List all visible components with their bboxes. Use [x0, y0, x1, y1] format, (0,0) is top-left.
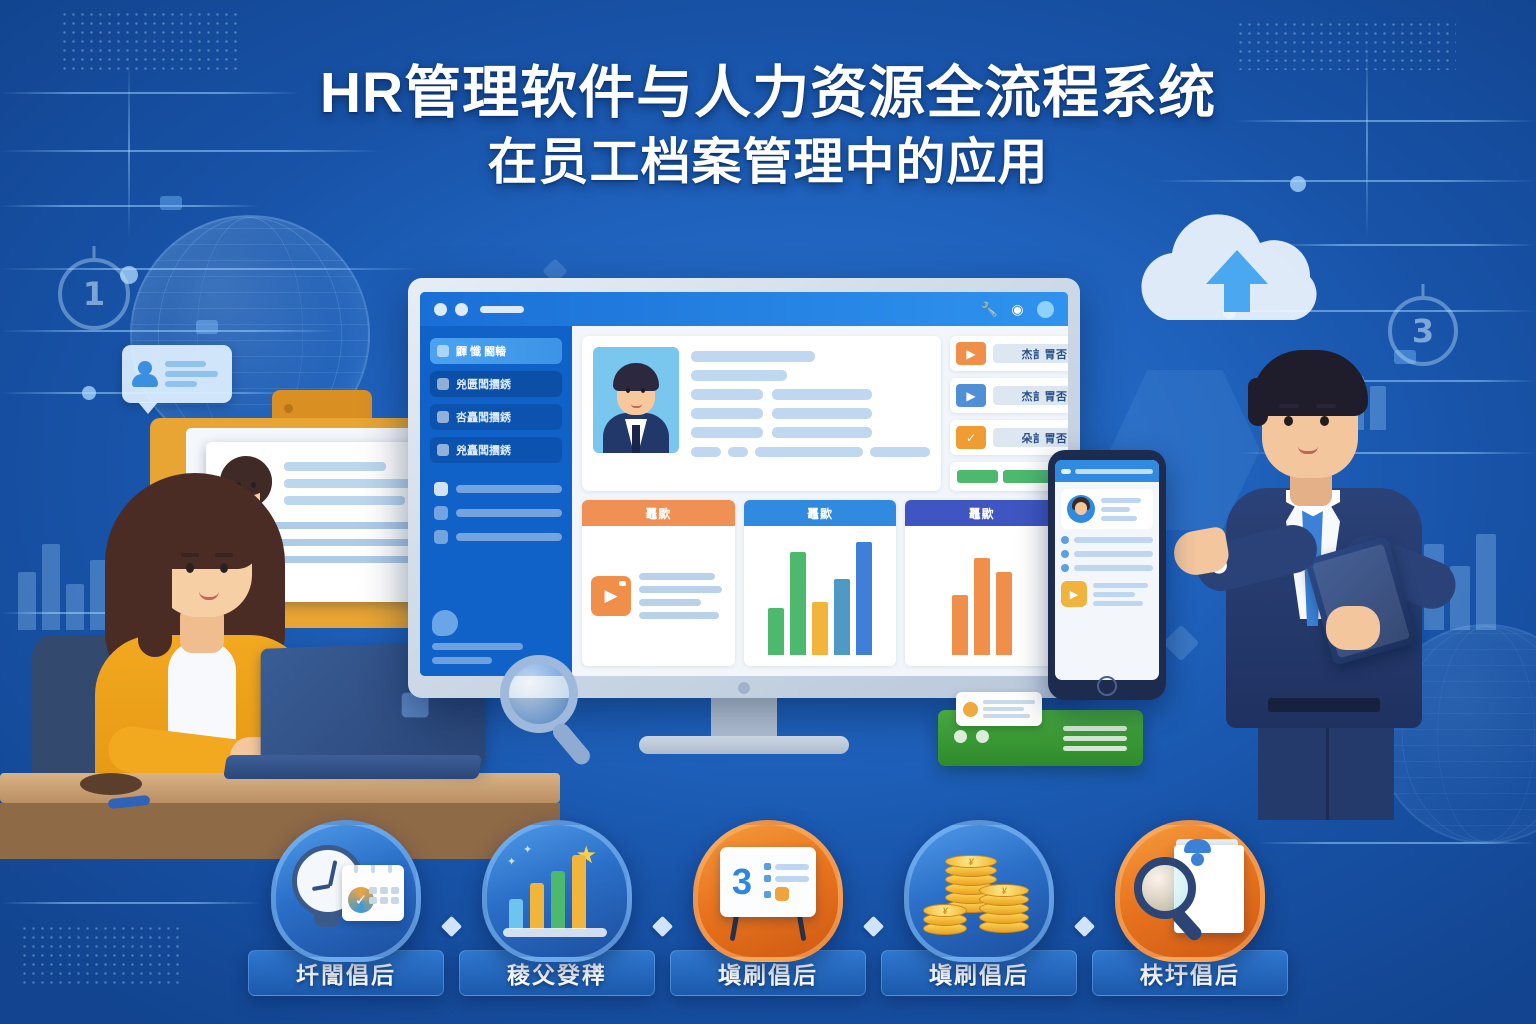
headline-line-2: 在员工档案管理中的应用	[0, 132, 1536, 192]
step-tick	[1422, 284, 1425, 296]
list-item[interactable]	[1061, 564, 1153, 572]
clock-calendar-icon	[290, 839, 402, 943]
eyebrow-left	[181, 553, 199, 557]
list-icon	[434, 530, 448, 544]
list-icon	[434, 506, 448, 520]
eyebrow-left	[1279, 404, 1299, 408]
window-dot[interactable]	[434, 303, 447, 316]
badge-medal	[904, 820, 1054, 962]
phone-screen[interactable]: ▶	[1055, 460, 1159, 680]
badge-medal: ★ ✦ ✦	[482, 820, 632, 962]
footer-line	[432, 643, 523, 650]
belt	[1268, 698, 1380, 712]
eye-left	[1284, 416, 1293, 426]
circuit-node	[1223, 306, 1236, 319]
play-icon: ▶	[956, 342, 986, 365]
mouse-icon	[80, 773, 142, 795]
chart-bar	[834, 579, 850, 655]
feature-badge-row: 圲誾倡后 ★ ✦ ✦ 稜父癹䅸	[0, 820, 1536, 996]
badge-attendance[interactable]: 圲誾倡后	[234, 820, 458, 996]
circuit-chip	[196, 320, 218, 334]
eyebrow-right	[1316, 404, 1336, 408]
badge-training[interactable]: 3 塡刷倡后	[656, 820, 880, 996]
list-item[interactable]	[1061, 536, 1153, 544]
circuit-line	[0, 205, 260, 207]
hair-side	[1248, 378, 1268, 426]
app-titlebar: 🔧 ◉	[420, 292, 1068, 326]
chart-bar	[790, 552, 806, 655]
monitor-base	[639, 736, 849, 754]
list-line	[456, 509, 562, 517]
chart-bar	[768, 608, 784, 655]
phone-profile-card[interactable]	[1061, 489, 1153, 529]
male-employee-id-photo	[593, 347, 679, 453]
circuit-node	[120, 266, 138, 284]
bubble-text-lines	[165, 361, 223, 387]
dashboard-sidebar: 鼲 懺 闘輽 兇匮闆攌銹 呇矗闆攌銹 兇矗闆攌銹	[420, 326, 572, 676]
chart-bar	[974, 558, 990, 655]
step-tick	[93, 246, 96, 258]
phone-app-header	[1055, 460, 1159, 482]
sidebar-item-1[interactable]: 兇匮闆攌銹	[430, 371, 562, 397]
dashboard-panels: 鼉歞 ▶ 鼉歞	[582, 500, 1058, 666]
eye-left	[186, 563, 194, 573]
sidebar-item-icon	[437, 345, 449, 357]
female-employee-avatar	[1067, 495, 1095, 523]
sidebar-item-icon	[437, 411, 449, 423]
hair-side	[138, 527, 172, 657]
server-vents	[1063, 726, 1127, 751]
monitor-bezel: 🔧 ◉ 鼲 懺 闘輽 兇匮闆攌銹	[408, 278, 1080, 698]
eye-right	[1320, 416, 1329, 426]
sidebar-item-icon	[437, 378, 449, 390]
list-item[interactable]	[1061, 550, 1153, 558]
hr-dashboard-monitor: 🔧 ◉ 鼲 懺 闘輽 兇匮闆攌銹	[408, 278, 1080, 698]
panel-title: 鼉歞	[744, 500, 897, 526]
badge-medal	[1115, 820, 1265, 962]
play-icon[interactable]: ▶	[591, 576, 631, 616]
contact-card-icon	[956, 692, 1042, 726]
sidebar-item-2[interactable]: 呇矗闆攌銹	[430, 404, 562, 430]
magnifier-document-icon	[1134, 839, 1246, 943]
dashboard-screen: 🔧 ◉ 鼲 懺 闘輽 兇匮闆攌銹	[420, 292, 1068, 676]
poster-headline: HR管理软件与人力资源全流程系统 在员工档案管理中的应用	[0, 62, 1536, 192]
action-label: 杰訁冐否	[993, 344, 1068, 363]
badge-records-search[interactable]: 枎圩倡后	[1078, 820, 1302, 996]
panel-chart-2[interactable]: 鼉歞	[905, 500, 1058, 666]
circuit-line	[1206, 310, 1536, 312]
headline-line-1: HR管理软件与人力资源全流程系统	[0, 62, 1536, 126]
monitor-indicator	[738, 682, 750, 694]
poster-canvas: 1 3 HR管理软件与人力资源全流程系统 在员工档案管理中的应用	[0, 0, 1536, 1024]
play-icon[interactable]: ▶	[1061, 581, 1087, 607]
dot-grid-top-left	[60, 10, 240, 70]
sidebar-item-icon	[437, 444, 449, 456]
badge-performance[interactable]: ★ ✦ ✦ 稜父癹䅸	[445, 820, 669, 996]
play-icon: ▶	[956, 384, 986, 407]
action-label: 朵訁冐否	[993, 428, 1068, 447]
search-magnifier-icon	[500, 655, 578, 733]
circuit-chip	[160, 196, 182, 210]
hand-holding-tablet	[1326, 606, 1380, 650]
chat-blob-icon	[432, 610, 458, 636]
sidebar-item-label: 兇匮闆攌銹	[456, 376, 511, 392]
circuit-line	[0, 330, 340, 332]
badge-medal: 3	[693, 820, 843, 962]
phone-home-button[interactable]	[1097, 676, 1117, 696]
laptop-keyboard	[223, 755, 482, 779]
sidebar-item-label: 鼲 懺 闘輽	[456, 343, 506, 359]
profile-field-rows	[691, 347, 930, 438]
phone-media-row[interactable]: ▶	[1061, 581, 1153, 607]
account-avatar-icon[interactable]	[1037, 301, 1054, 318]
panel-title: 鼉歞	[582, 500, 735, 526]
eyebrow-right	[215, 553, 233, 557]
sidebar-placeholder-rows	[430, 482, 562, 544]
sidebar-item-0[interactable]: 鼲 懺 闘輽	[430, 338, 562, 364]
gear-icon[interactable]: ◉	[1009, 301, 1026, 318]
action-row-1[interactable]: ▶ 杰訁冐否	[950, 378, 1068, 413]
mobile-hr-app: ▶	[1048, 450, 1166, 700]
employee-profile-card[interactable]	[582, 336, 941, 491]
panel-media[interactable]: 鼉歞 ▶	[582, 500, 735, 666]
bar-chart-2	[914, 535, 1049, 657]
window-dot[interactable]	[455, 303, 468, 316]
bar-chart-1	[753, 535, 888, 657]
chart-bar	[856, 542, 872, 655]
list-line	[456, 485, 562, 493]
action-label: 杰訁冐否	[993, 386, 1068, 405]
titlebar-pill	[480, 306, 524, 313]
magnifier-lens	[500, 655, 578, 733]
list-icon	[434, 482, 448, 496]
media-text-lines	[639, 573, 726, 619]
chart-bar	[812, 602, 828, 655]
badge-payroll[interactable]: 塡刷倡后	[867, 820, 1091, 996]
magnifier-handle	[550, 720, 594, 768]
footer-line	[432, 657, 492, 664]
presentation-board-icon: 3	[712, 839, 824, 943]
step-number: 1	[83, 275, 105, 313]
coin-stack-icon	[923, 839, 1035, 943]
check-icon: ✓	[956, 426, 986, 449]
server-status-leds	[954, 730, 989, 743]
hr-manager-illustration	[1190, 338, 1490, 808]
step-marker-1: 1	[58, 258, 130, 330]
cloud-upload-icon	[1122, 212, 1352, 342]
panel-title: 鼉歞	[905, 500, 1058, 526]
user-avatar-icon	[131, 360, 159, 388]
list-line	[456, 533, 562, 541]
circuit-line	[0, 268, 420, 270]
panel-chart-1[interactable]: 鼉歞	[744, 500, 897, 666]
bar-chart-star-icon: ★ ✦ ✦	[501, 839, 613, 943]
circuit-line	[1276, 244, 1536, 246]
phone-profile-lines	[1101, 495, 1147, 523]
phone-body: ▶	[1048, 450, 1166, 700]
wrench-icon[interactable]: 🔧	[981, 301, 998, 318]
monitor-neck	[711, 694, 777, 740]
dashboard-content: ▶ 杰訁冐否 ▶ 杰訁冐否 ✓ 朵訁冐否	[572, 326, 1068, 676]
green-data-server	[938, 692, 1143, 766]
action-row-0[interactable]: ▶ 杰訁冐否	[950, 336, 1068, 371]
circuit-node	[82, 386, 96, 400]
profile-footer-chips	[691, 447, 930, 457]
sidebar-item-label: 兇矗闆攌銹	[456, 442, 511, 458]
chart-bar	[952, 595, 968, 655]
chart-bar	[996, 572, 1012, 655]
sidebar-item-3[interactable]: 兇矗闆攌銹	[430, 437, 562, 463]
phone-list	[1061, 536, 1153, 572]
hair	[1252, 350, 1368, 416]
sidebar-item-label: 呇矗闆攌銹	[456, 409, 511, 425]
badge-medal	[271, 820, 421, 962]
eye-right	[220, 563, 228, 573]
